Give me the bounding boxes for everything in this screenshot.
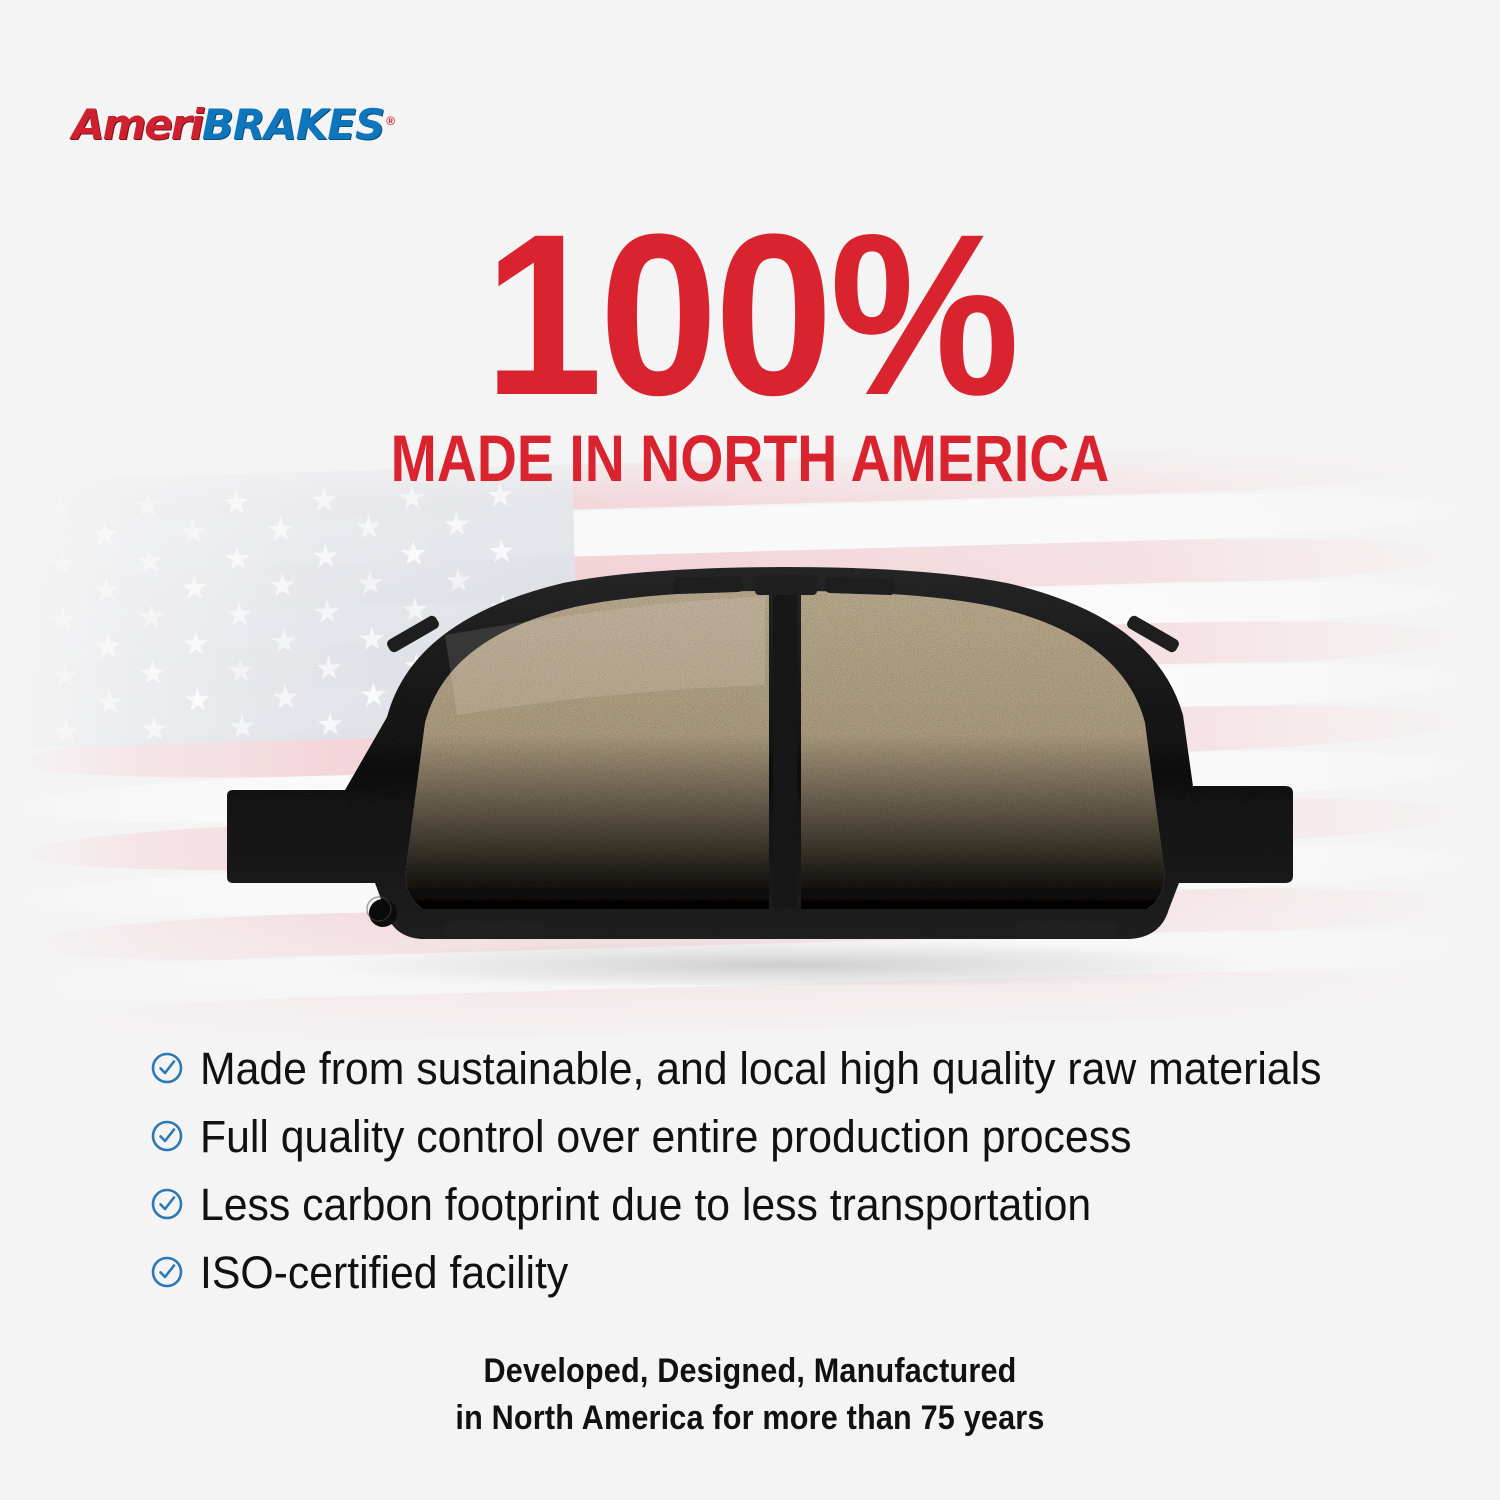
brake-pad-illustration [225, 565, 1315, 985]
footer-line-1: Developed, Designed, Manufactured [75, 1348, 1425, 1395]
benefit-label: ISO-certified facility [200, 1250, 568, 1295]
flag-star [96, 689, 123, 716]
flag-stripe [14, 487, 1455, 572]
flag-star [139, 660, 166, 687]
flag-star [50, 606, 77, 633]
benefit-label: Made from sustainable, and local high qu… [200, 1046, 1322, 1091]
flag-star [183, 631, 210, 658]
flag-star [223, 490, 250, 517]
footer-line-2: in North America for more than 75 years [75, 1395, 1425, 1442]
flag-star [488, 538, 515, 565]
flag-stripe [12, 440, 1453, 525]
headline-subtitle: MADE IN NORTH AMERICA [120, 420, 1380, 496]
brand-logo[interactable]: Ameri BRAKES ® [72, 100, 394, 149]
check-circle-icon [150, 1255, 184, 1289]
flag-star [138, 604, 165, 631]
flag-star [93, 577, 120, 604]
flag-star [92, 521, 119, 548]
list-item: Made from sustainable, and local high qu… [150, 1040, 1400, 1096]
flag-star [181, 575, 208, 602]
flag-star [311, 487, 338, 514]
center-slot-cap [755, 575, 817, 595]
benefit-label: Less carbon footprint due to less transp… [200, 1182, 1091, 1227]
flag-star [487, 482, 514, 509]
wear-tab-top-left [673, 576, 744, 594]
logo-text-brakes: BRAKES [202, 100, 384, 149]
flag-star [135, 492, 162, 519]
headline-block: 100% MADE IN NORTH AMERICA [0, 214, 1500, 496]
benefits-list: Made from sustainable, and local high qu… [150, 1040, 1400, 1312]
flag-star [141, 716, 168, 743]
mounting-hole [369, 899, 397, 927]
flag-star [48, 551, 75, 578]
flag-star [53, 718, 80, 745]
list-item: Less carbon footprint due to less transp… [150, 1176, 1400, 1232]
flag-star [355, 514, 382, 541]
flag-star [267, 516, 294, 543]
logo-text-ameri: Ameri [72, 100, 202, 149]
headline-percent: 100% [53, 214, 1448, 416]
bottom-tab-right [1015, 921, 1115, 937]
flag-star [184, 687, 211, 714]
flag-star [136, 548, 163, 575]
flag-star [47, 495, 74, 522]
flag-star [443, 511, 470, 538]
footer-block: Developed, Designed, Manufactured in Nor… [0, 1348, 1500, 1442]
list-item: ISO-certified facility [150, 1244, 1400, 1300]
flag-star [95, 633, 122, 660]
flag-star [399, 485, 426, 512]
flag-star [400, 541, 427, 568]
list-item: Full quality control over entire product… [150, 1108, 1400, 1164]
wear-tab-top-right [825, 577, 896, 595]
registered-trademark-icon: ® [386, 114, 394, 128]
bottom-tab-left [445, 921, 545, 937]
pad-drop-shadow [315, 939, 1255, 985]
flag-star [179, 519, 206, 546]
marketing-banner: Ameri BRAKES ® 100% MADE IN NORTH AMERIC… [0, 0, 1500, 1500]
benefit-label: Full quality control over entire product… [200, 1114, 1131, 1159]
center-wear-slot [773, 591, 797, 909]
check-circle-icon [150, 1187, 184, 1221]
check-circle-icon [150, 1051, 184, 1085]
product-image-brake-pads [225, 565, 1315, 985]
check-circle-icon [150, 1119, 184, 1153]
flag-star [51, 662, 78, 689]
